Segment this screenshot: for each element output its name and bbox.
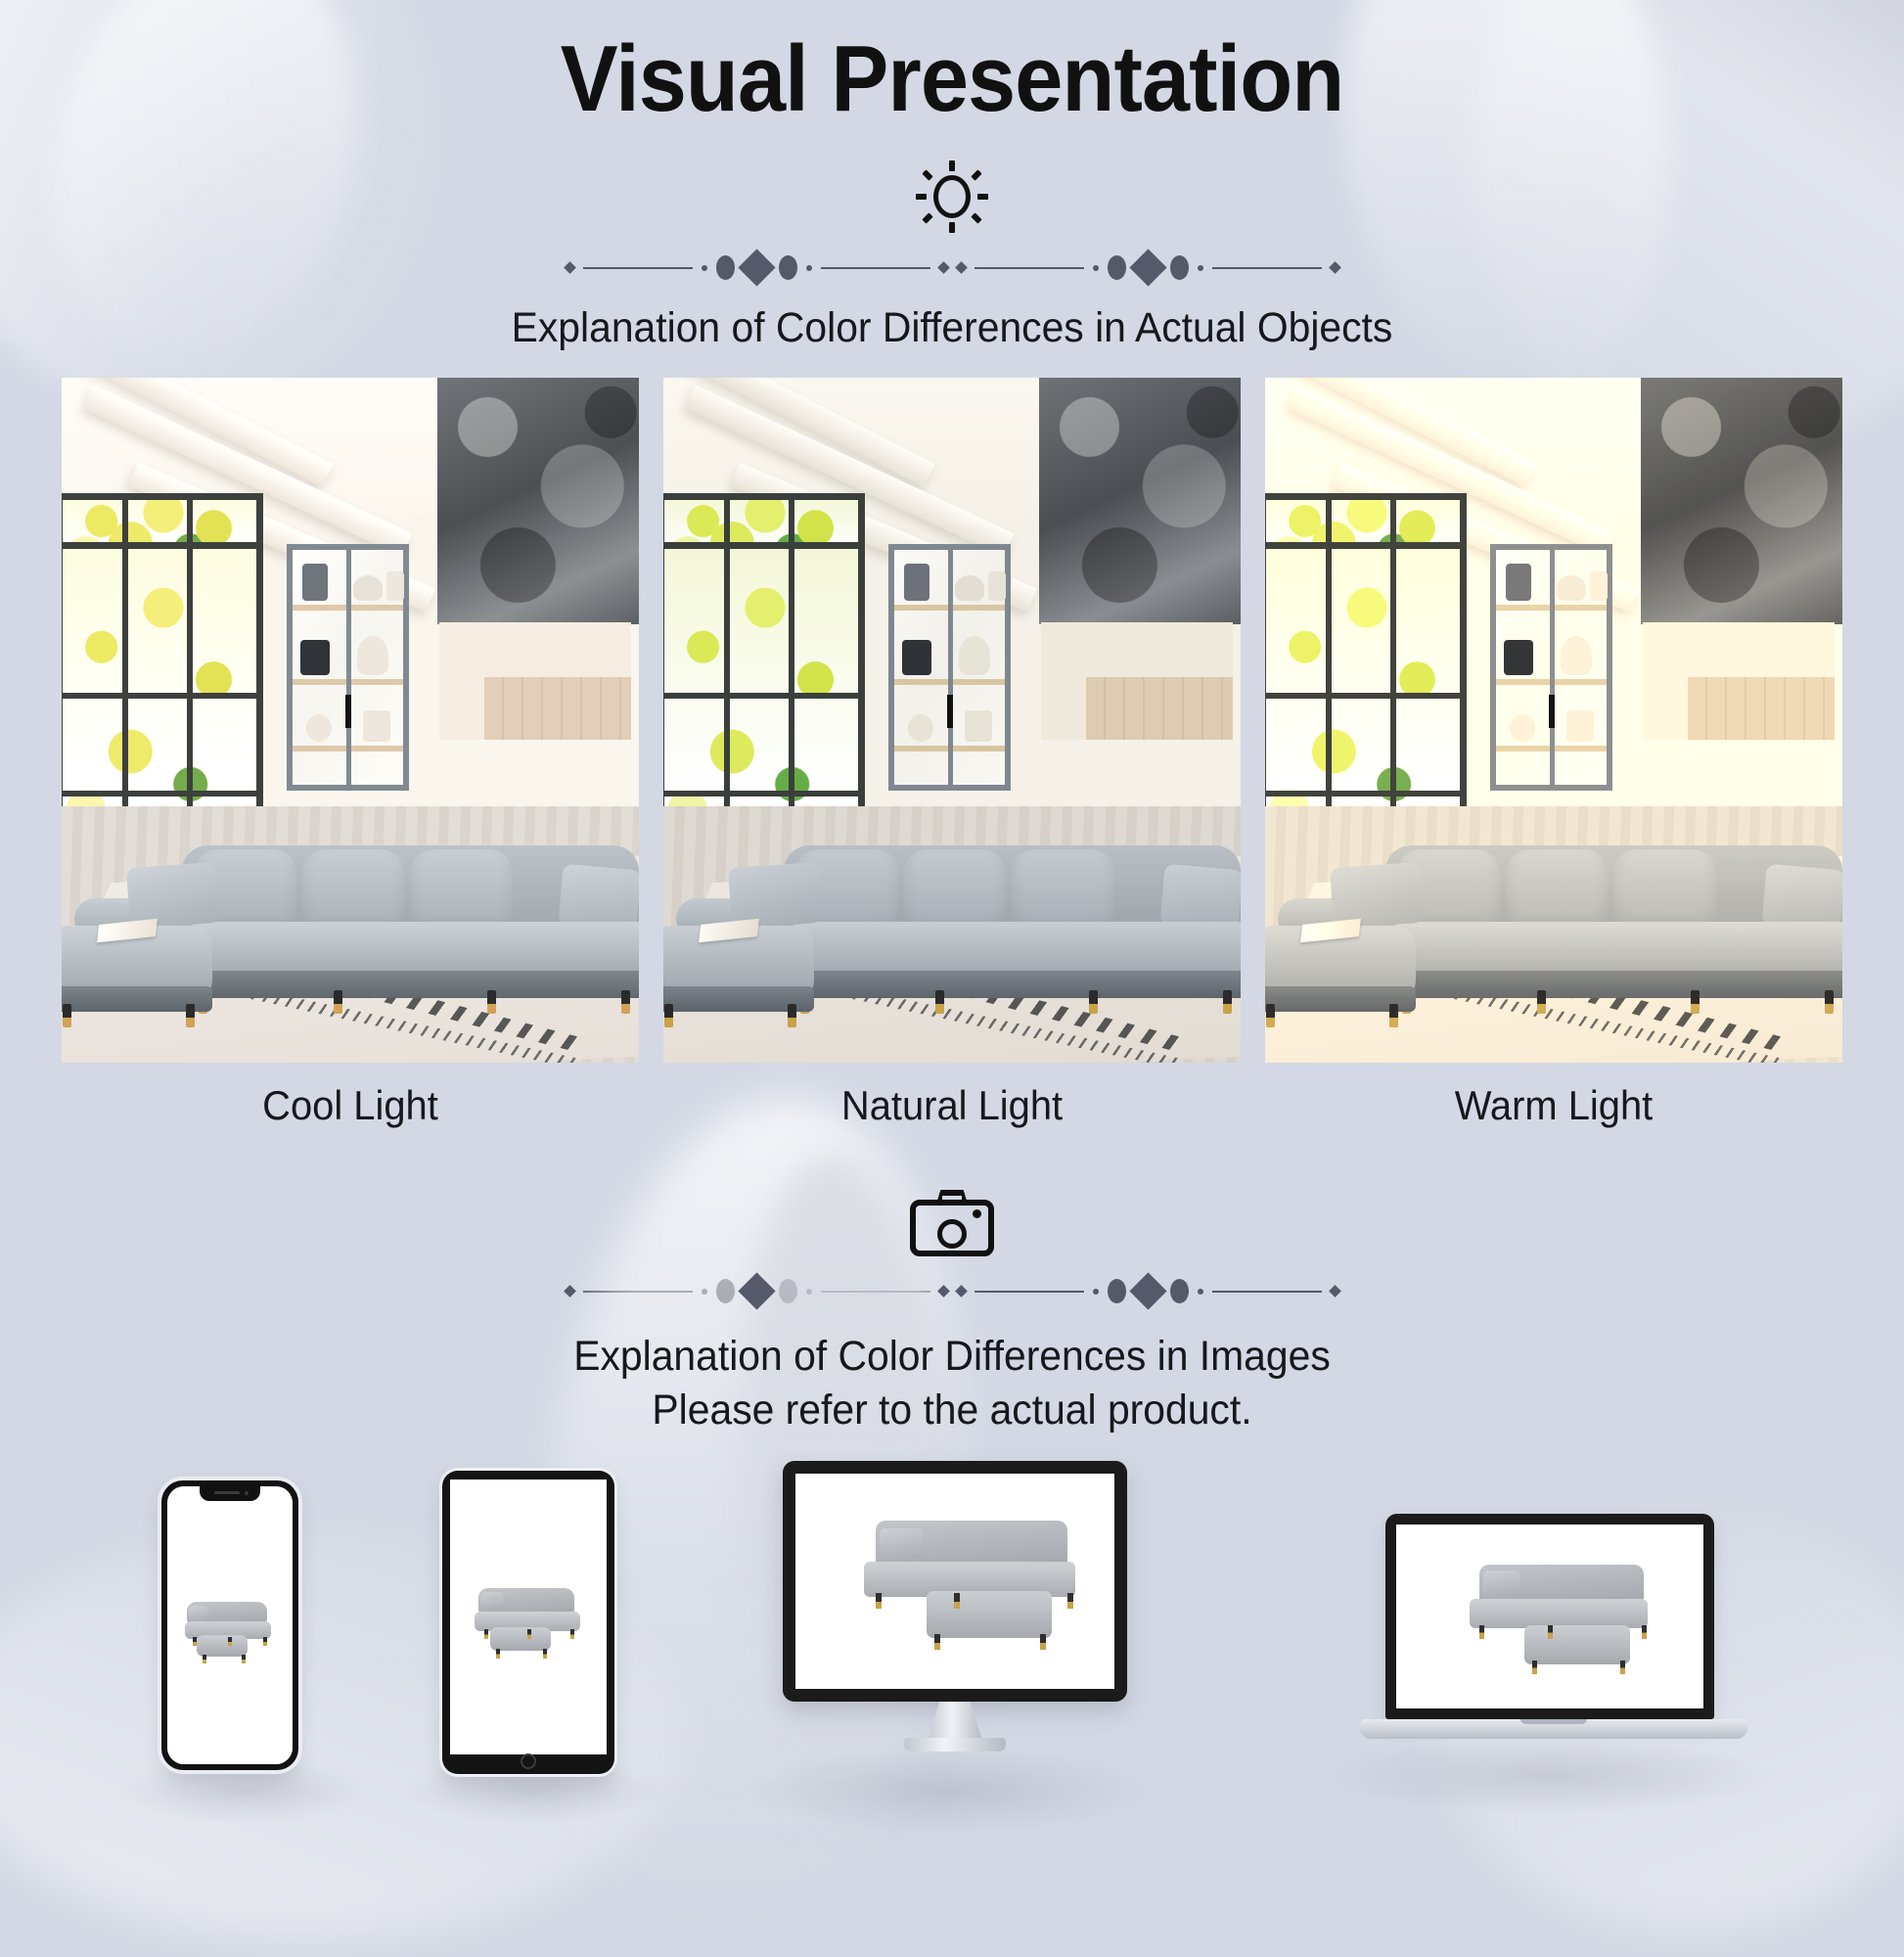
room-photo-cool-light — [62, 378, 639, 1063]
device-tablet — [442, 1471, 614, 1774]
photo-cell-cool: Cool Light — [62, 378, 639, 1129]
ornamental-divider-bottom — [0, 1278, 1904, 1304]
room-photo-warm-light — [1265, 378, 1842, 1063]
laptop-screen-product-image — [1396, 1525, 1703, 1708]
photo-caption-cool: Cool Light — [76, 1082, 625, 1129]
display-cabinet — [287, 544, 409, 791]
photo-comparison-strip: Cool Light — [0, 378, 1904, 1129]
tablet-home-button[interactable] — [521, 1753, 536, 1769]
camera-icon-row — [0, 1190, 1904, 1256]
tablet-screen-product-image — [450, 1479, 607, 1754]
photo-caption-warm: Warm Light — [1280, 1082, 1829, 1129]
camera-icon — [910, 1190, 994, 1256]
photo-cell-warm: Warm Light — [1265, 378, 1842, 1129]
phone-notch — [200, 1486, 260, 1501]
ornamental-divider-top — [0, 254, 1904, 281]
device-laptop — [1360, 1514, 1747, 1758]
device-monitor — [783, 1461, 1127, 1745]
device-mockups — [0, 1463, 1904, 1884]
photo-cell-natural: Natural Light — [663, 378, 1241, 1129]
device-smartphone — [161, 1480, 298, 1770]
images-note-line2: Please refer to the actual product. — [48, 1384, 1857, 1437]
photo-caption-natural: Natural Light — [678, 1082, 1227, 1129]
concrete-wall-panel — [437, 378, 639, 624]
sun-icon-row — [0, 160, 1904, 233]
phone-screen-product-image — [167, 1486, 293, 1764]
room-photo-natural-light — [663, 378, 1241, 1063]
sun-icon — [916, 160, 988, 233]
sectional-sofa — [62, 787, 639, 1012]
subtitle-actual-objects: Explanation of Color Differences in Actu… — [48, 304, 1857, 352]
monitor-screen-product-image — [795, 1474, 1114, 1689]
images-note-line1: Explanation of Color Differences in Imag… — [48, 1330, 1857, 1384]
page-title: Visual Presentation — [76, 0, 1828, 133]
